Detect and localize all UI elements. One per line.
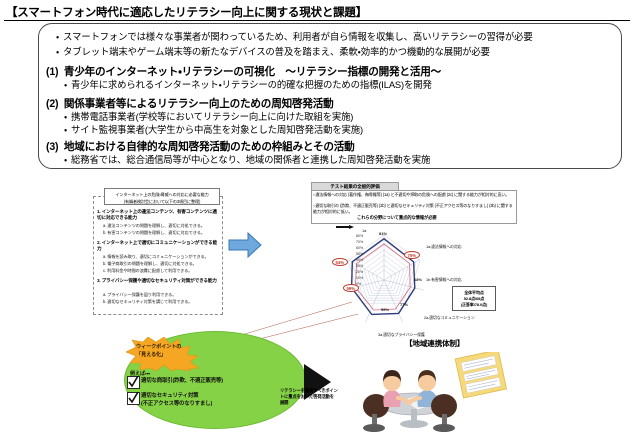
radar-tick: 10%: [356, 276, 363, 280]
capability-group-2-item: b. 電子商取引の問題を理解し、適切に対処できる。: [103, 261, 223, 266]
test-result-line: ○適切な取引の (詐欺、不適正販売等) (2b) と適切なセキュリティ対策 (不…: [313, 203, 515, 214]
capability-group-1-item: b. 有害コンテンツの問題を理解し、適切に対応できる。: [103, 230, 223, 235]
radar-tick: 20%: [356, 270, 363, 274]
promotion-text: リテラシーを重視すべきポイントに重点をおいた啓発活動を展開: [280, 388, 338, 406]
radar-axis-label: 1a: [362, 228, 366, 233]
score-summary-box: 全体平均点 52.8点/68点 (正答率/78.0点): [452, 286, 496, 311]
bullet-dot: ・: [64, 111, 67, 122]
capability-group-2-item: a. 情報を読み取り、適切にコミュニケーションができる。: [103, 254, 223, 259]
conclusion-arrow-icon: [336, 216, 354, 220]
bullet-dot: ・: [64, 124, 67, 135]
section-item: ・携帯電話事業者(学校等においてリテラシー向上に向けた取組を実施): [64, 111, 353, 123]
page-title: 【スマートフォン時代に適応したリテラシー向上に関する現状と課題】: [6, 4, 367, 20]
bullet-dot: ・: [56, 31, 59, 42]
weak-point-label: ウィークポイントの 「見える化」: [136, 344, 198, 359]
checkbox-checked-1[interactable]: [127, 376, 140, 389]
radar-value-1a: 81%: [379, 231, 387, 236]
radar-tick: 70%: [356, 240, 363, 244]
section-heading-3: (3) 地域における自律的な周知啓発活動のための枠組みとその活動: [46, 139, 355, 154]
section-item: ・総務省では、総合通信局等が中心となり、地域の関係者と連携した周知啓発活動を実施: [64, 154, 430, 166]
summary-bullet: ・スマートフォンでは様々な事業者が関わっているため、利用者が自ら情報を収集し、高…: [56, 31, 533, 43]
test-result-conclusion: これらの分野について重点的な情報が必要: [357, 215, 437, 221]
blue-right-arrow-icon: [228, 232, 262, 258]
radar-tick: 60%: [356, 246, 363, 250]
capability-group-1-item: a. 違法コンテンツの問題を理解し、適切に対処できる。: [103, 223, 223, 228]
radar-tick: 30%: [356, 264, 363, 268]
checkbox-checked-2[interactable]: [127, 392, 140, 405]
radar-value-2b: 77%: [400, 302, 408, 307]
radar-value-highlight-3b: 54%: [332, 258, 348, 266]
capability-panel-header: インターネット上の危険・脅威への対応に必要な能力 (有識者検討会において以下の3…: [104, 188, 220, 205]
test-result-line: ○違法情報への対応 (著作権、侮辱権等) (1a) と不適切や搾取の危険への配慮…: [313, 192, 515, 198]
capability-group-1-title: 1. インターネット上の違法コンテンツ、有害コンテンツに適切に対応できる能力: [97, 209, 221, 220]
radar-axis-label: 2a.適切なコミュニケーション: [424, 315, 475, 321]
radar-value-2a: 68%: [414, 277, 422, 282]
section-heading-2: (2) 関係事業者等によるリテラシー向上のための周知啓発活動: [46, 96, 334, 111]
checklist-item-1: 適切な商取引(詐欺、不適正販売等): [141, 378, 223, 386]
radar-value-highlight-1b: 75%: [404, 251, 420, 259]
summary-bullet: ・タブレット端末やゲーム端末等の新たなデバイスの普及を踏まえ、柔軟・効率的かつ機…: [56, 46, 490, 58]
title-divider: [4, 20, 630, 21]
radar-tick: 50%: [356, 252, 363, 256]
radar-tick: 80%: [356, 234, 363, 238]
radar-axis-label: 1b.有害情報への対応: [426, 277, 461, 283]
radar-value-highlight-3a: 59%: [343, 284, 359, 292]
meeting-illustration: [352, 352, 552, 437]
checklist-item-2: 適切なセキュリティ対策 (不正アクセス等のなりすまし): [141, 393, 212, 408]
capability-group-3-item: a. プライバシー保護を図り利用できる。: [103, 292, 223, 297]
capability-group-2-title: 2. インターネット上で適切にコミュニケーションができる能力: [97, 240, 221, 251]
bullet-dot: ・: [64, 79, 67, 90]
section-item: ・青少年に求められるインターネット・リテラシーの的確な把握のための指標(ILAS…: [64, 79, 432, 91]
bullet-dot: ・: [56, 46, 59, 57]
radar-axis-label: 1a.違法情報への対応: [426, 244, 461, 250]
capability-group-3-title: 3. プライバシー保護や適切なセキュリティ対策ができる能力: [97, 278, 221, 284]
section-item: ・サイト監視事業者(大学生から中高生を対象とした周知啓発活動を実施): [64, 124, 363, 136]
radar-tick: 40%: [356, 258, 363, 262]
section-heading-1: (1) 青少年のインターネット・リテラシーの可視化 ～リテラシー指標の開発と活用…: [46, 64, 441, 79]
bullet-dot: ・: [64, 154, 67, 165]
region-section-heading: 【地域連携体制】: [405, 338, 464, 349]
capability-group-2-item: c. 利用料金や時間の浪費に配慮して利用できる。: [103, 268, 223, 273]
